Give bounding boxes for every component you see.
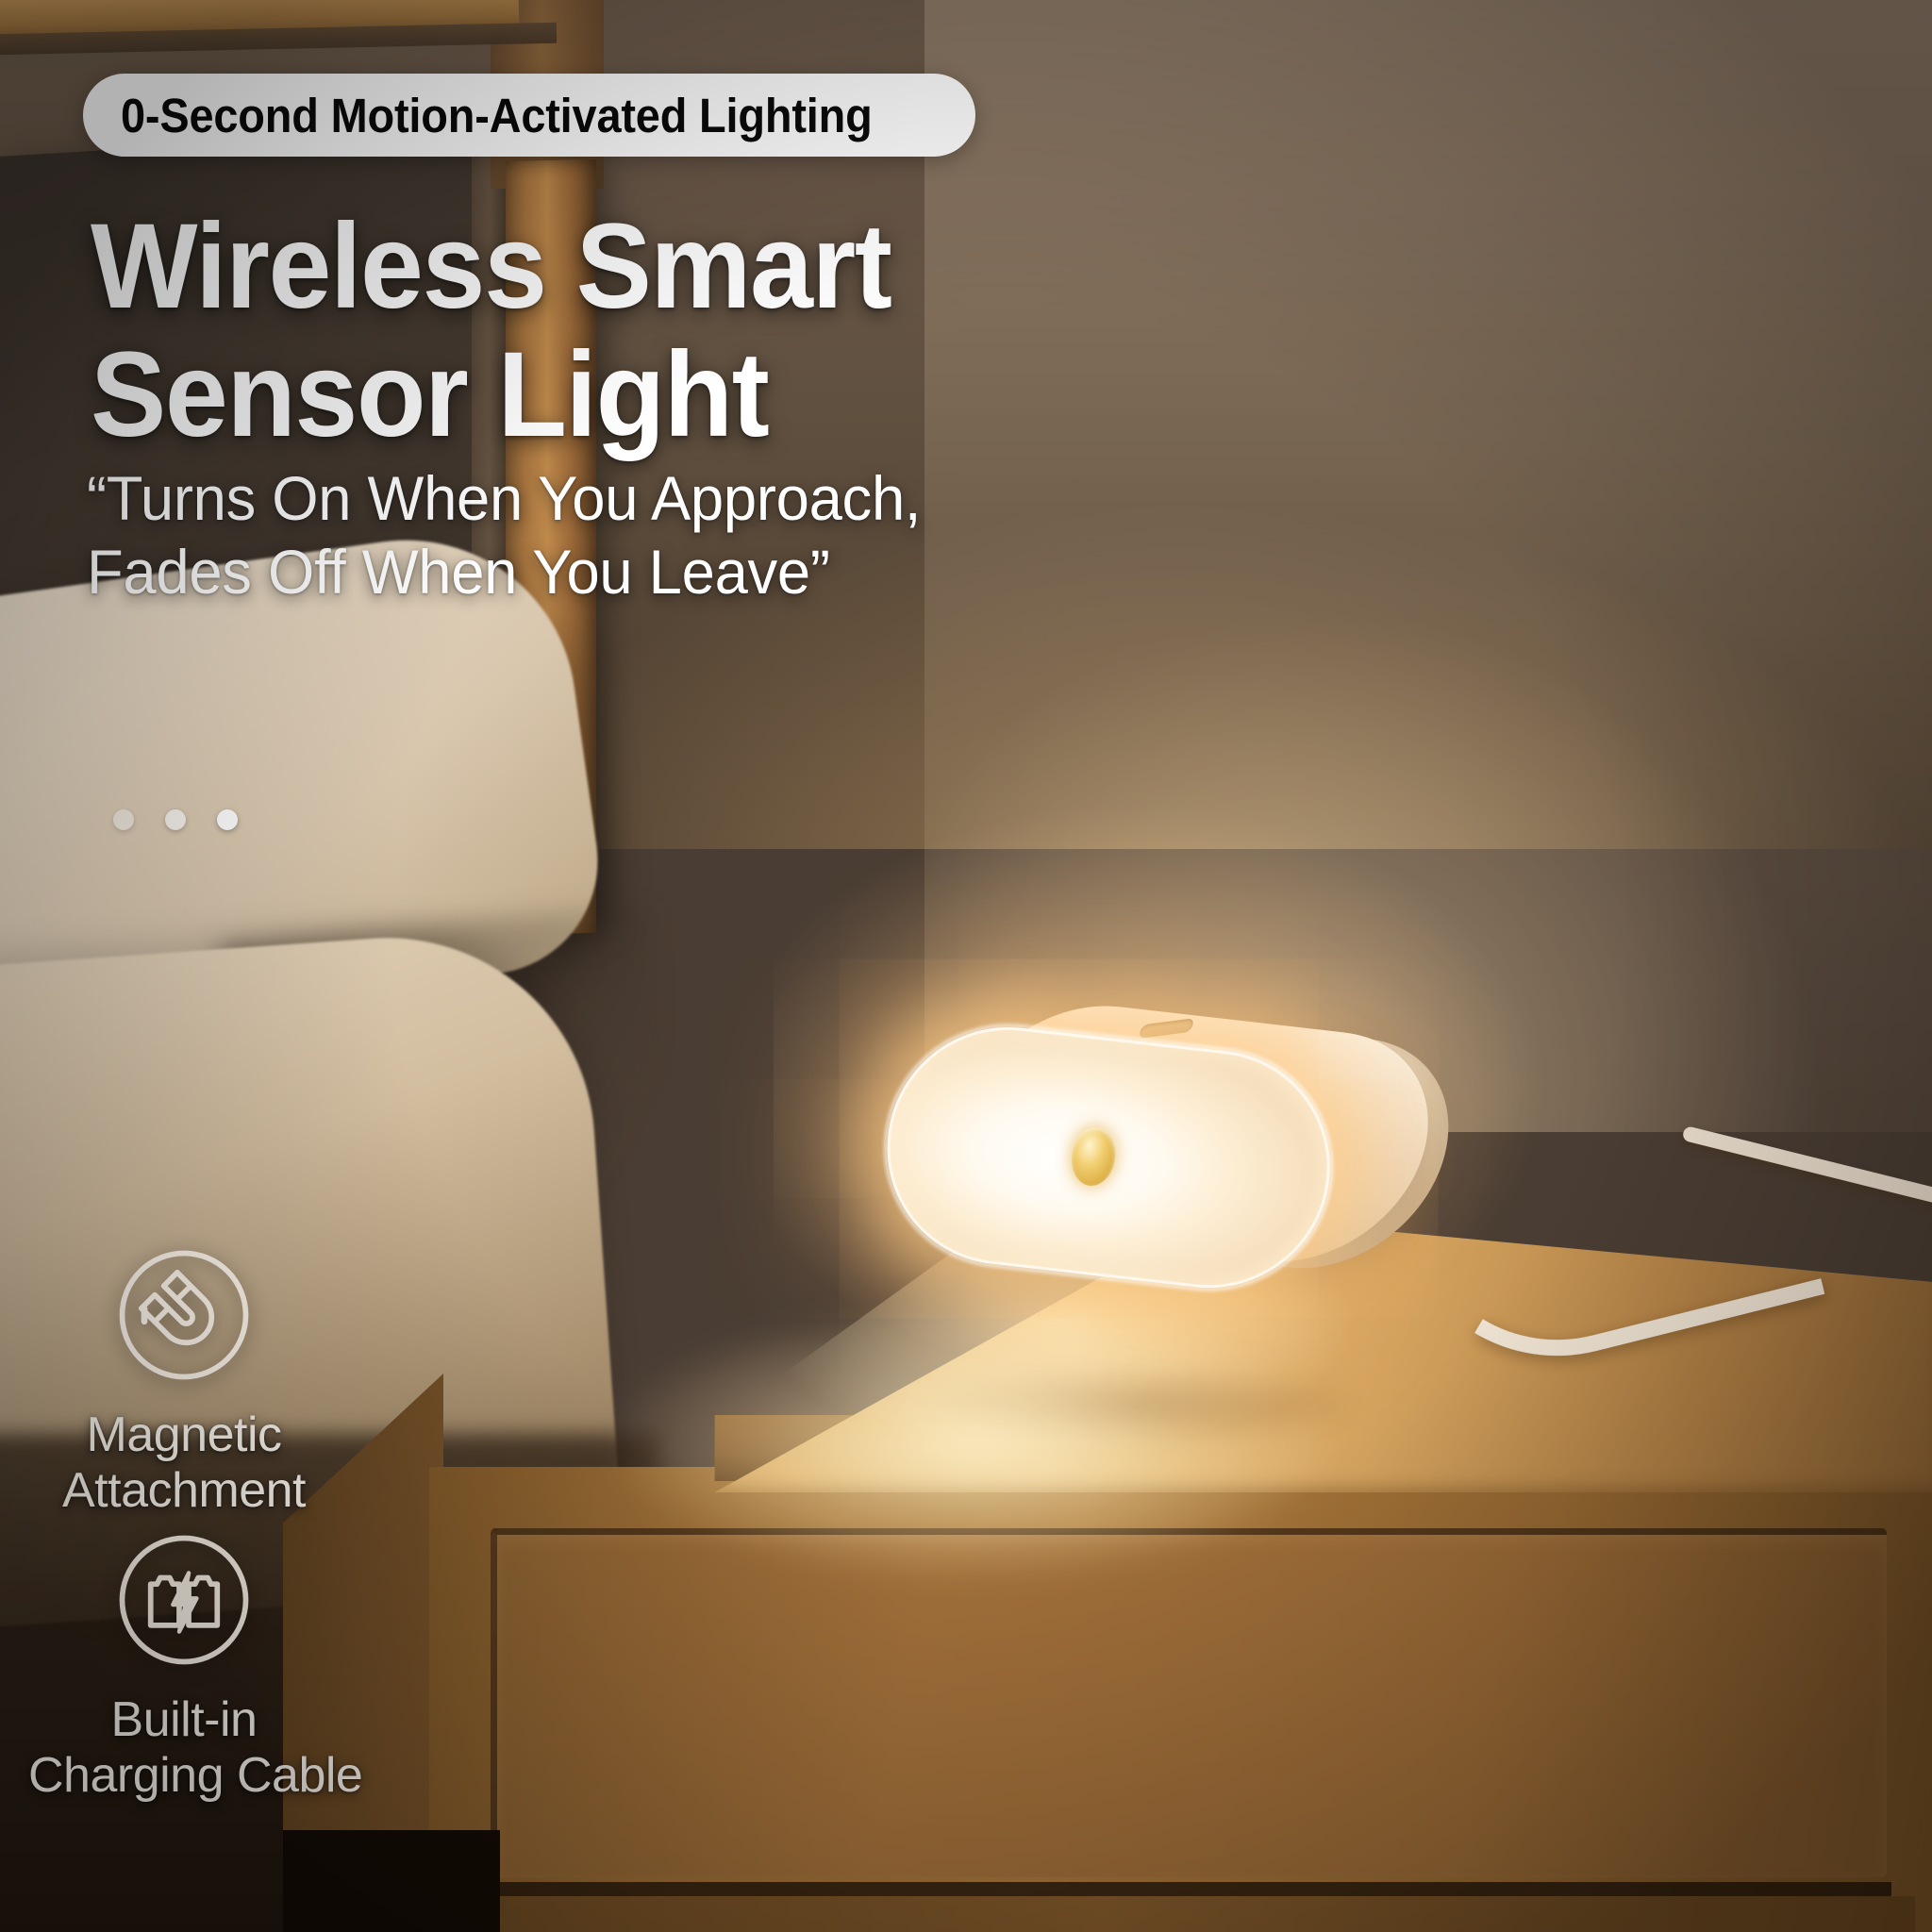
feature-badge: 0-Second Motion-Activated Lighting [83,74,975,157]
nightstand-shadow-void [283,1830,500,1932]
sensor-light-product [887,1042,1547,1420]
feature-badge-label: 0-Second Motion-Activated Lighting [121,88,873,143]
feature-magnetic-label: Magnetic Attachment [28,1407,340,1519]
feature-charging-label: Built-in Charging Cable [28,1692,340,1804]
feature-magnetic-label-line1: Magnetic [28,1407,340,1463]
feature-magnetic-label-line2: Attachment [28,1463,340,1519]
feature-charging-label-line1: Built-in [28,1692,340,1748]
lamp-body [873,1014,1409,1306]
subtitle-line-1: “Turns On When You Approach, [87,462,1083,536]
subtitle-quote: “Turns On When You Approach, Fades Off W… [87,462,1083,609]
page-title: Wireless Smart Sensor Light [91,203,1066,458]
headline-line-2: Sensor Light [91,331,1066,459]
feature-magnetic-attachment: Magnetic Attachment [28,1236,340,1519]
headline-line-1: Wireless Smart [91,203,1066,331]
battery-charging-icon [105,1521,263,1679]
feature-charging-cable: Built-in Charging Cable [28,1521,340,1804]
carousel-dot-1[interactable] [113,809,134,830]
product-hero-image: 0-Second Motion-Activated Lighting Wirel… [0,0,1932,1932]
magnet-icon [105,1236,263,1394]
carousel-dot-2[interactable] [165,809,186,830]
feature-charging-label-line2: Charging Cable [28,1748,340,1804]
carousel-dot-3[interactable] [217,809,238,830]
nightstand-lower-rail [443,1896,1915,1932]
subtitle-line-2: Fades Off When You Leave” [87,536,1083,609]
carousel-dots[interactable] [113,809,238,830]
